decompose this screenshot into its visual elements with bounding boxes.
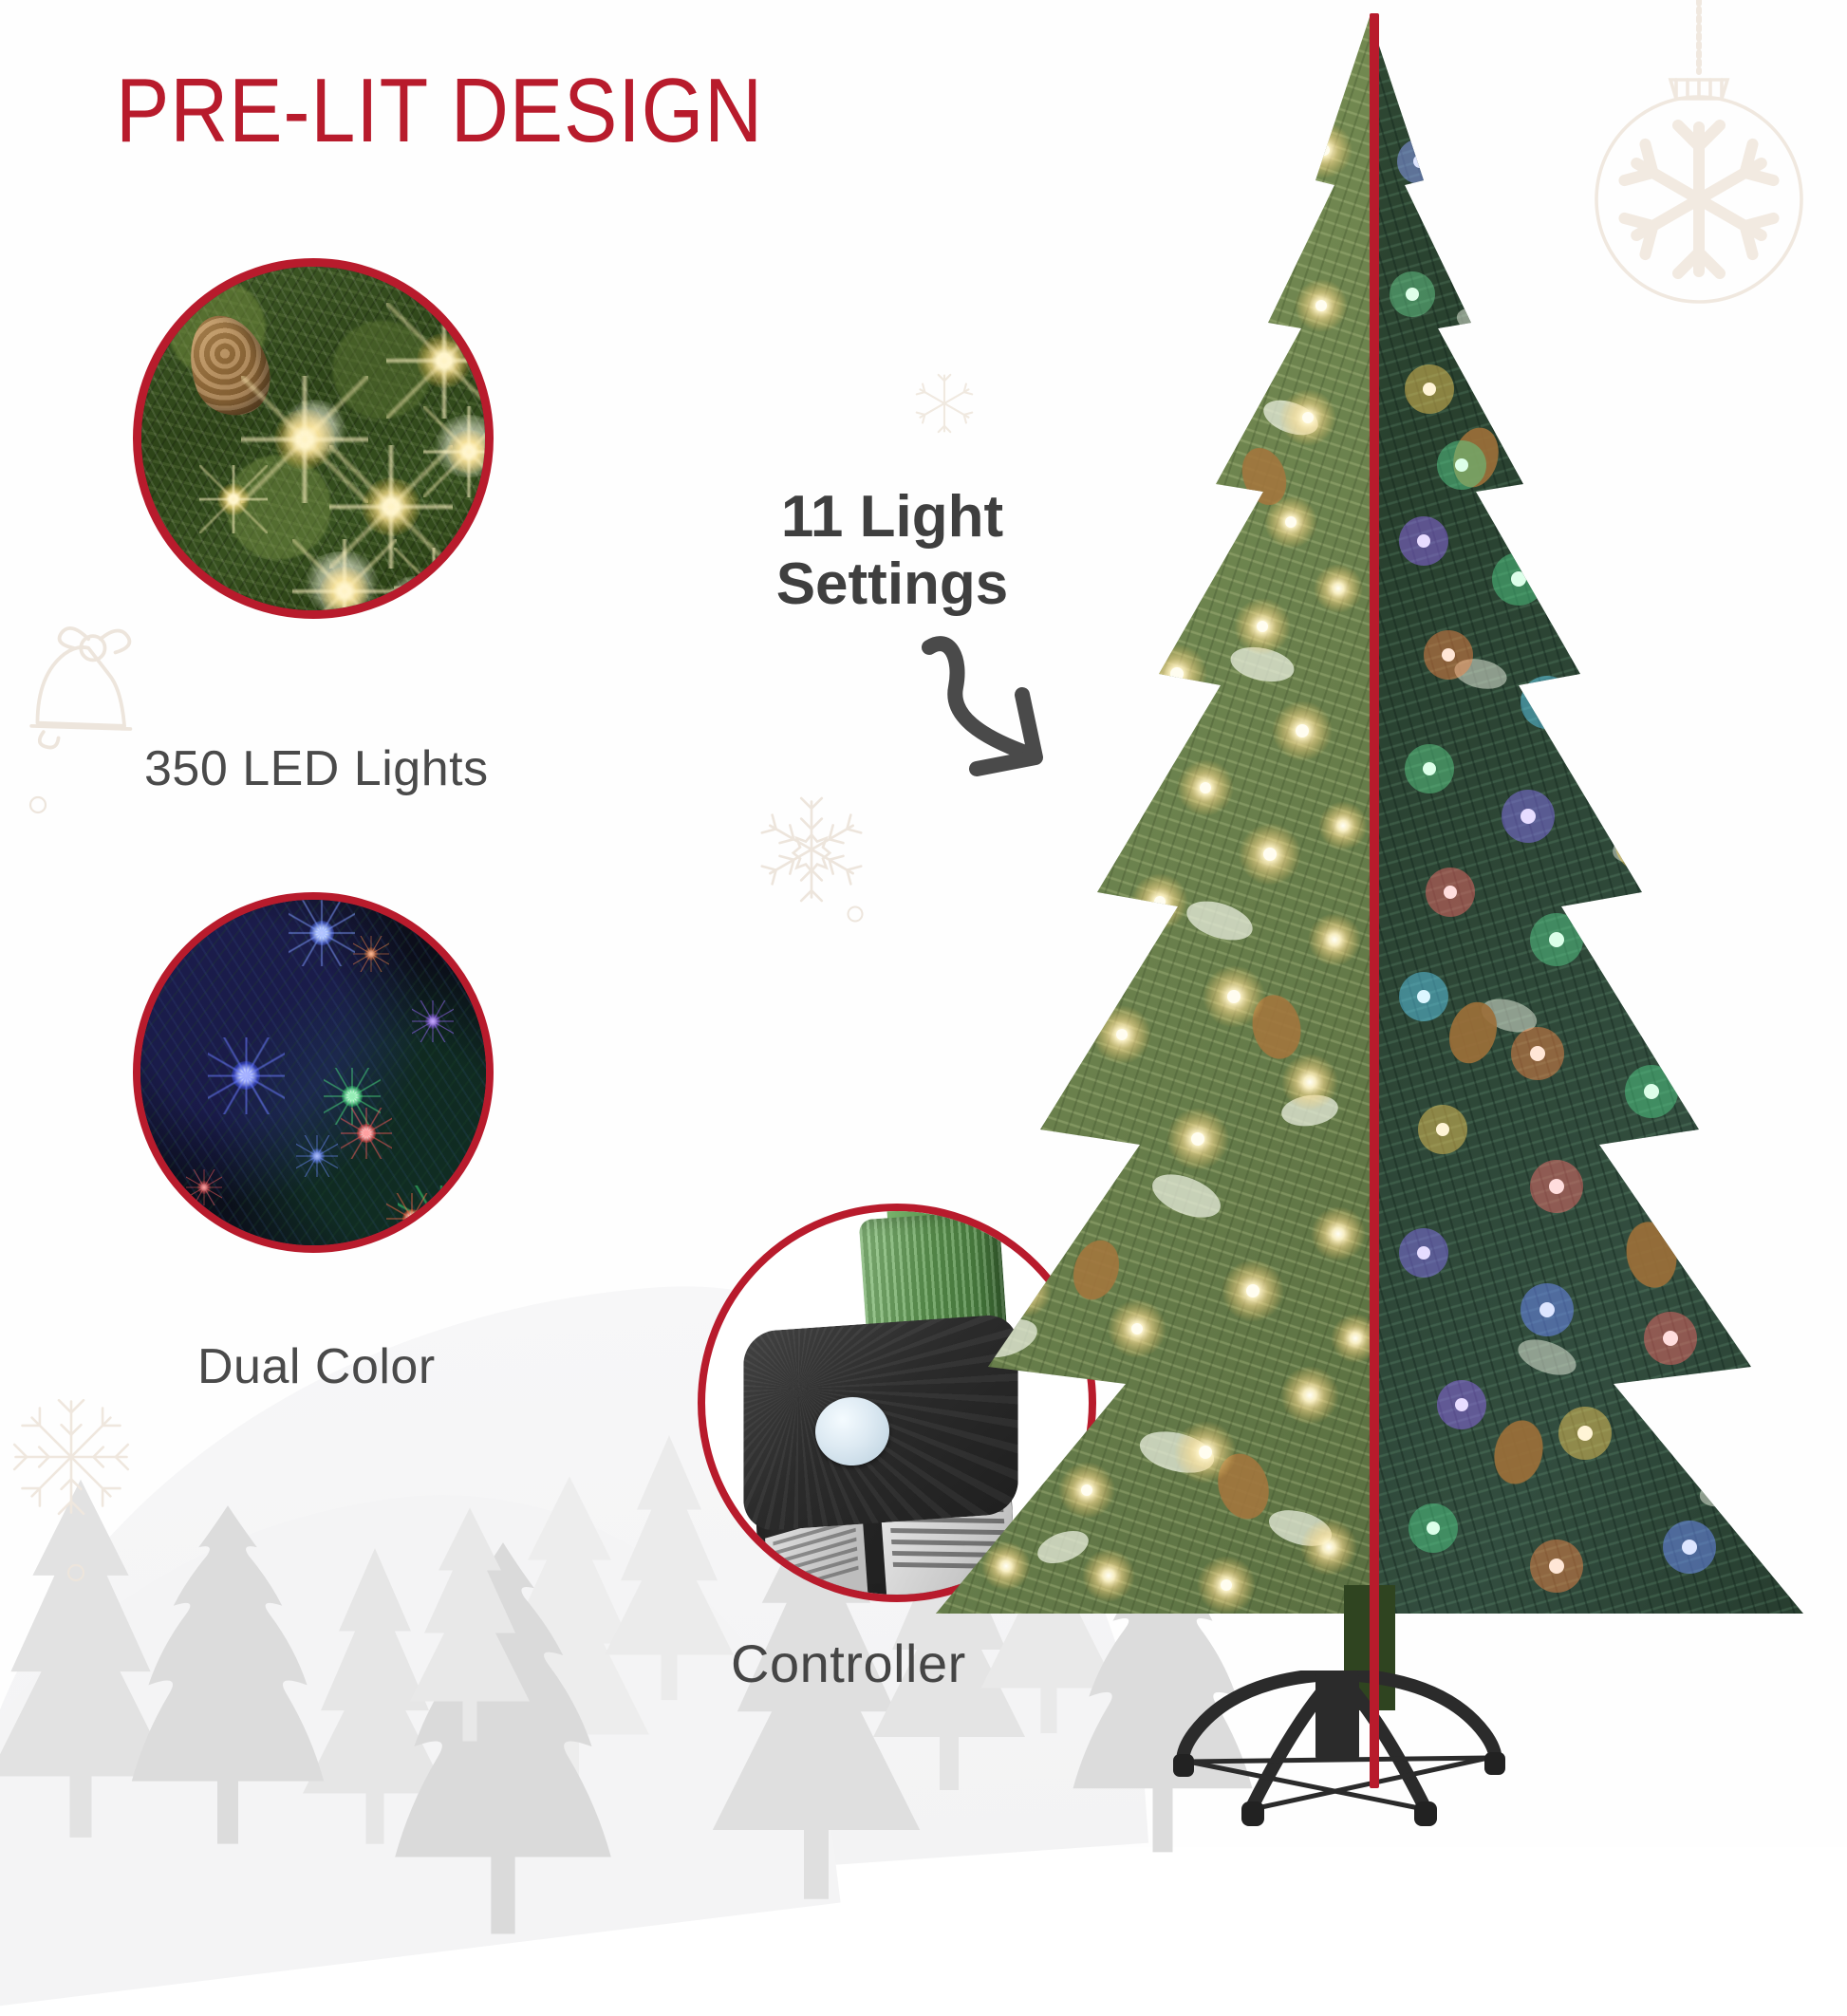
- multicolor-led-light: [232, 1061, 260, 1090]
- multicolor-led-light: [364, 947, 378, 961]
- multicolor-led-light: [309, 1148, 325, 1164]
- feature-circle-led-lights: [133, 258, 494, 619]
- page-title: PRE-LIT DESIGN: [116, 59, 763, 163]
- dot-decor-icon: [65, 1561, 87, 1584]
- warm-led-light: [447, 430, 491, 474]
- feature-label-dual-color: Dual Color: [197, 1338, 436, 1395]
- background-pine-silhouette: [399, 1500, 541, 1746]
- multicolor-led-light: [197, 1181, 211, 1194]
- multicolor-led-light: [309, 921, 334, 945]
- warm-led-light: [417, 333, 472, 388]
- bell-icon: [9, 615, 161, 757]
- warm-led-light: [217, 483, 250, 515]
- feature-circle-dual-color: [133, 892, 494, 1253]
- warm-led-light: [415, 569, 453, 607]
- multicolor-led-light: [342, 1086, 363, 1107]
- multicolor-led-light: [425, 1014, 440, 1029]
- warm-led-light: [320, 567, 369, 616]
- tree-split-divider: [1370, 13, 1379, 1788]
- tree-stand: [1091, 1671, 1585, 1846]
- dot-decor-icon: [845, 904, 866, 924]
- multicolor-led-light: [357, 1124, 376, 1143]
- snowflake-icon: [755, 793, 868, 906]
- dot-decor-icon: [27, 793, 49, 816]
- multicolor-led-light: [402, 1209, 421, 1228]
- snowflake-icon: [9, 1395, 133, 1519]
- feature-label-led-lights: 350 LED Lights: [144, 740, 489, 797]
- poster-canvas: PRE-LIT DESIGN 350 LED Lights: [0, 0, 1847, 1847]
- warm-led-light: [274, 409, 335, 470]
- background-pine-silhouette: [123, 1490, 332, 1851]
- warm-led-light: [362, 477, 420, 536]
